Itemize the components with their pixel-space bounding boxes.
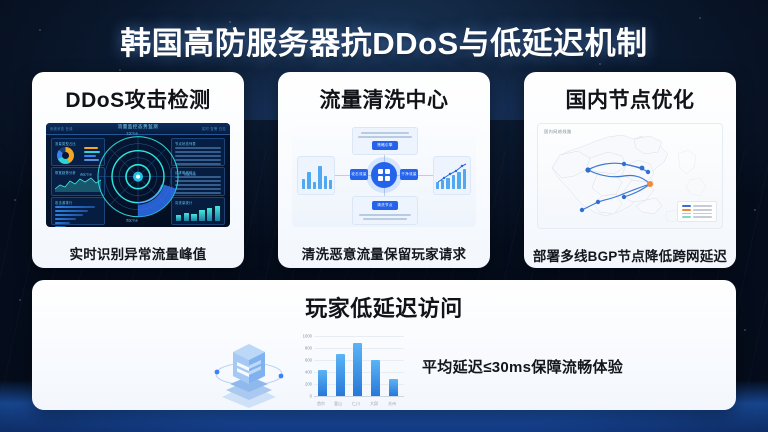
bar (371, 360, 380, 396)
radar-label: 南区节点 (126, 219, 138, 223)
chip-clean-traffic: 干净流量 (400, 169, 418, 180)
card-domestic-nodes[interactable]: 国内节点优化 国内网络线路 (524, 72, 736, 268)
server-stack-icon (210, 334, 288, 408)
infographic-canvas: 韩国高防服务器抗DDoS与低延迟机制 DDoS攻击检测 系统状态 在线 流量监控… (0, 0, 768, 432)
card-ddos-detection[interactable]: DDoS攻击检测 系统状态 在线 流量监控态势监测 实时 告警 日志 流量类型占… (32, 72, 244, 268)
radar-label: 北区节点 (126, 132, 138, 136)
y-tick: 800 (305, 346, 312, 351)
plot-area (314, 336, 404, 396)
status-table (175, 147, 221, 167)
legend-item (682, 216, 713, 218)
radar-display: 北区节点 东区节点 西区节点 南区节点 (96, 135, 180, 219)
bar (318, 370, 327, 396)
panel-heading: 攻击源排行 (55, 200, 72, 205)
x-tick: 首尔 (317, 401, 325, 407)
clean-traffic-panel (433, 156, 471, 195)
legend-item (682, 213, 713, 215)
y-axis: 1000 800 600 400 200 0 (296, 336, 312, 396)
attack-traffic-panel (297, 156, 335, 195)
card-title: DDoS攻击检测 (32, 84, 244, 114)
scrub-node-panel: 清洗节点 (352, 196, 418, 225)
latency-statement: 平均延迟≤30ms保障流畅体验 (422, 356, 623, 377)
dashboard-header-left: 系统状态 在线 (50, 126, 73, 131)
hub-node[interactable] (371, 162, 397, 188)
y-tick: 600 (305, 358, 312, 363)
card-scrubbing-center[interactable]: 流量清洗中心 (278, 72, 490, 268)
card-title: 流量清洗中心 (278, 84, 490, 114)
map-legend (677, 201, 718, 222)
donut-chart (57, 147, 74, 164)
card-caption: 部署多线BGP节点降低跨网延迟 (524, 245, 736, 265)
x-tick: 仁川 (352, 401, 360, 407)
grid-four-squares-icon (378, 169, 390, 181)
dashboard-header-title: 流量监控态势监测 (118, 124, 159, 130)
x-tick: 光州 (388, 401, 396, 407)
card-title: 玩家低延迟访问 (32, 291, 736, 323)
bar (389, 379, 398, 396)
dashboard-header-right: 实时 告警 日志 (202, 126, 226, 131)
y-tick: 0 (310, 394, 312, 399)
ranking-bars (55, 206, 101, 227)
page-title: 韩国高防服务器抗DDoS与低延迟机制 (0, 18, 768, 63)
x-tick: 釜山 (334, 401, 342, 407)
ddos-dashboard-image: 系统状态 在线 流量监控态势监测 实时 告警 日志 流量类型占比 带宽趋势分析 (46, 123, 230, 227)
bars (314, 336, 402, 396)
chip-policy-engine: 策略引擎 (372, 141, 398, 150)
bar-chart (302, 165, 332, 189)
panel-heading: 流量类型占比 (55, 141, 76, 146)
bar (353, 343, 362, 396)
legend-item (682, 209, 713, 211)
panel-heading: 带宽趋势分析 (55, 170, 76, 175)
latency-bar-chart: 1000 800 600 400 200 0 首尔 釜山 仁川 大邱 光州 (296, 332, 404, 408)
chip-scrub-node: 清洗节点 (372, 201, 398, 210)
bar (336, 354, 345, 396)
china-map-image: 国内网络线路 (537, 123, 723, 229)
connector-line (384, 187, 385, 196)
card-player-latency[interactable]: 玩家低延迟访问 (32, 280, 736, 410)
y-tick: 200 (305, 382, 312, 387)
y-tick: 400 (305, 370, 312, 375)
radar-label: 西区节点 (80, 173, 92, 177)
x-tick: 大邱 (370, 401, 378, 407)
card-caption: 实时识别异常流量峰值 (32, 243, 244, 263)
area-chart (55, 176, 101, 192)
radar-label: 东区节点 (184, 173, 196, 177)
scrubbing-diagram-image: 攻击流量 干净流量 策略引擎 清洗节点 (292, 123, 476, 227)
line-chart (437, 162, 467, 186)
card-title: 国内节点优化 (524, 84, 736, 114)
bar-chart (176, 205, 220, 221)
card-caption: 清洗恶意流量保留玩家请求 (278, 243, 490, 263)
y-tick: 1000 (303, 334, 312, 339)
chip-attack-traffic: 攻击流量 (350, 169, 368, 180)
legend-item (682, 205, 713, 207)
x-axis: 首尔 釜山 仁川 大邱 光州 (314, 396, 404, 408)
detail-table (175, 176, 221, 196)
policy-engine-panel: 策略引擎 (352, 127, 418, 155)
